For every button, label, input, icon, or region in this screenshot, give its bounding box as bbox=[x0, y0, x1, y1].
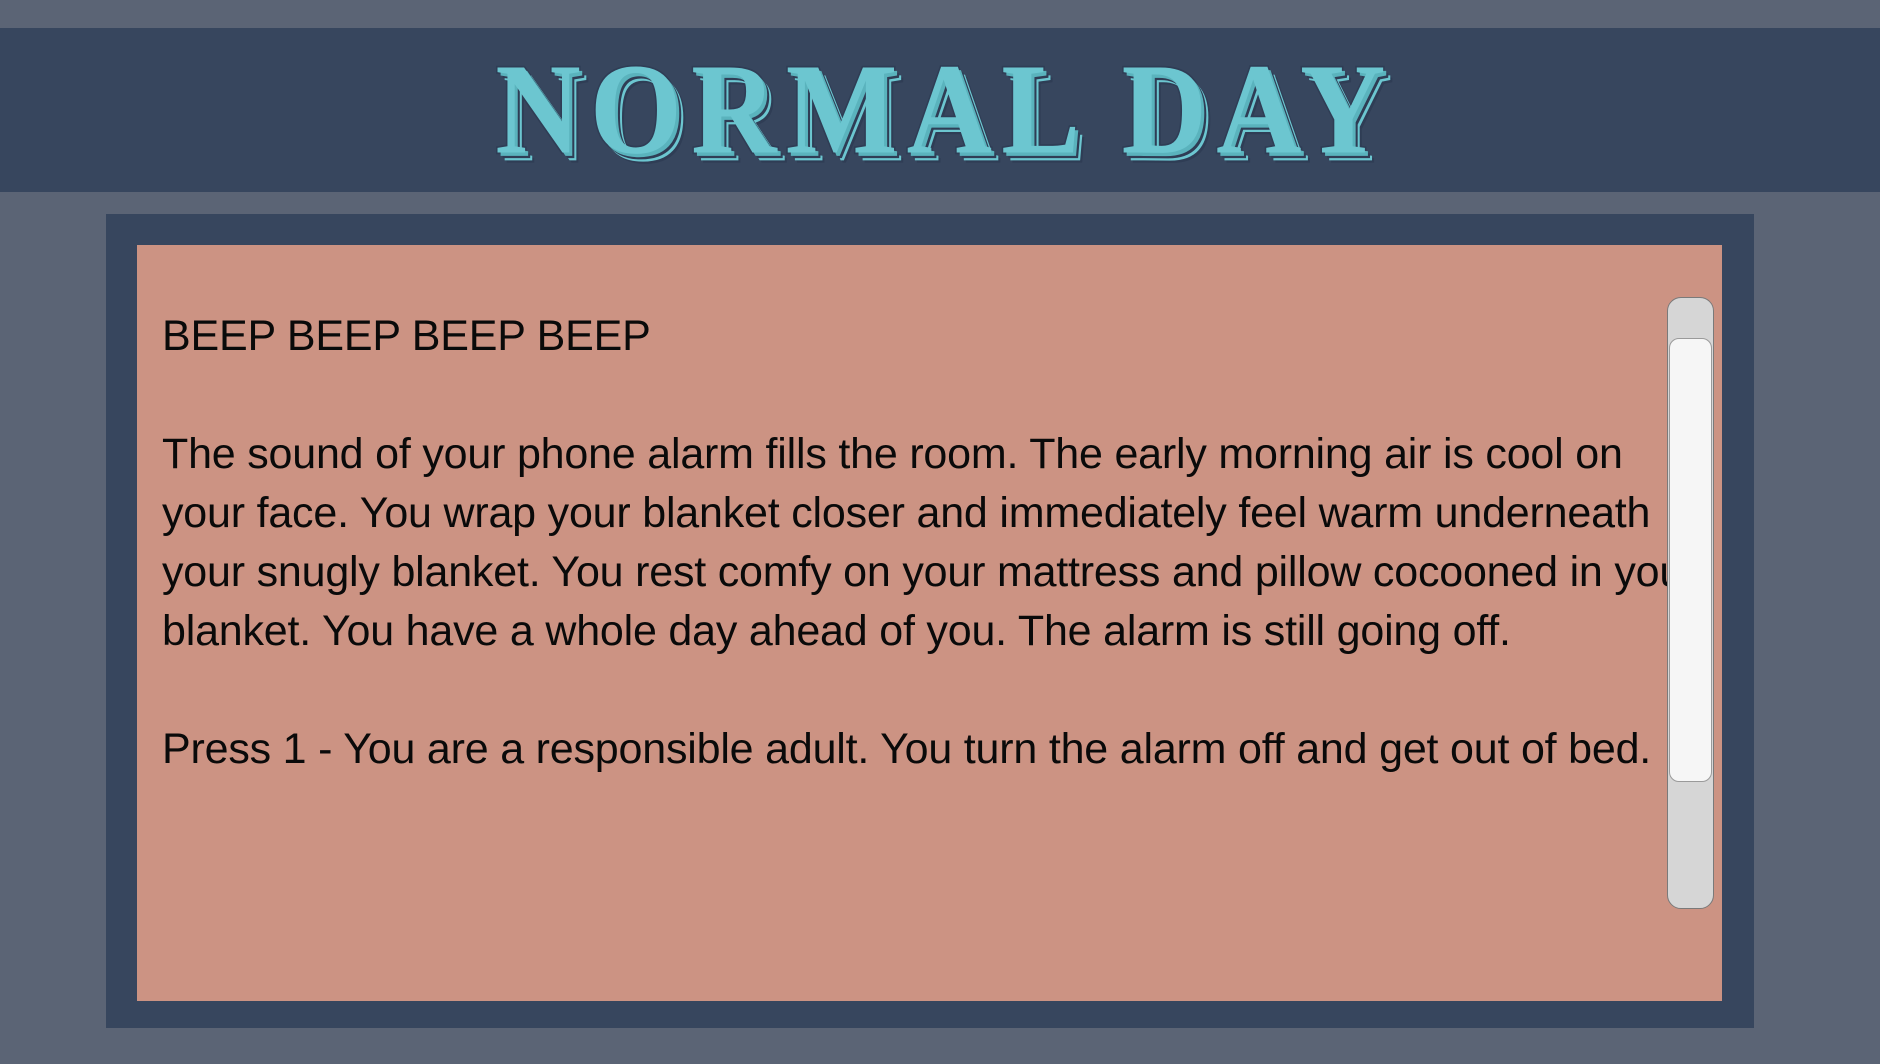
story-text-box: BEEP BEEP BEEP BEEP The sound of your ph… bbox=[137, 245, 1722, 1001]
story-narration-text: BEEP BEEP BEEP BEEP The sound of your ph… bbox=[162, 307, 1707, 779]
vertical-scrollbar[interactable] bbox=[1667, 297, 1714, 909]
story-panel: BEEP BEEP BEEP BEEP The sound of your ph… bbox=[106, 214, 1754, 1028]
title-banner: NORMAL DAY bbox=[0, 28, 1880, 192]
scrollbar-thumb[interactable] bbox=[1669, 338, 1712, 782]
page-title: NORMAL DAY bbox=[486, 45, 1394, 175]
